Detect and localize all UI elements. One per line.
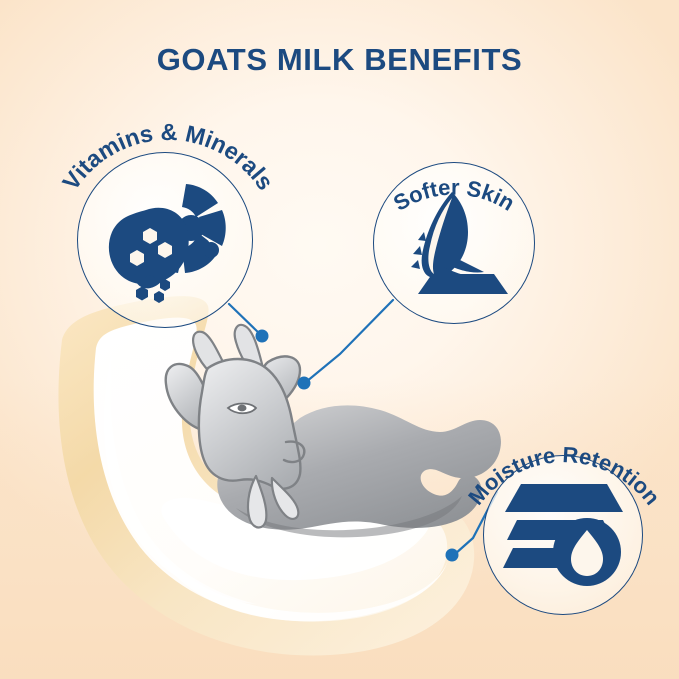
benefit-circle-vitamins-minerals[interactable] [77,152,253,328]
benefit-circle-softer-skin[interactable] [373,162,535,324]
layers-water-drop-icon [484,456,642,614]
benefit-circle-moisture-retention[interactable] [483,455,643,615]
page-title: GOATS MILK BENEFITS [0,42,679,78]
feather-icon [374,163,534,323]
molecule-hexagon-icon [78,153,252,327]
goats-milk-benefits-infographic: GOATS MILK BENEFITS [0,0,679,679]
